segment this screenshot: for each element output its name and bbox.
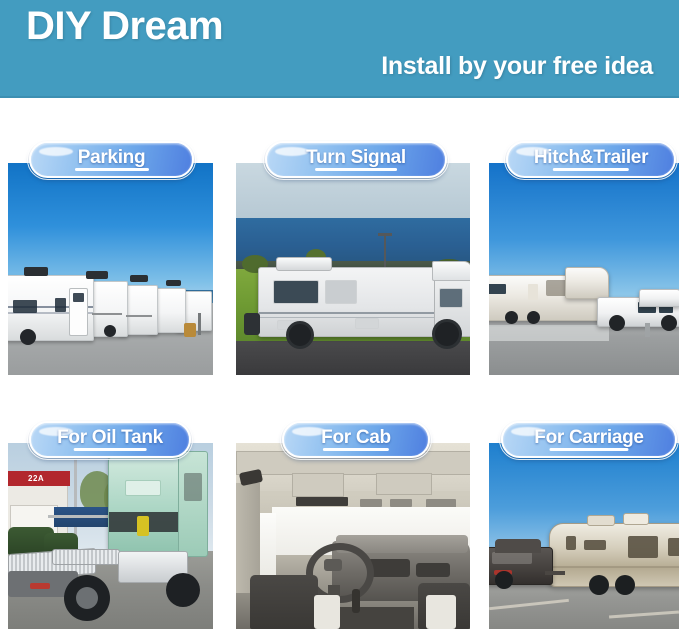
badge-label: Hitch&Trailer [534,147,648,169]
grid-cell-for-cab[interactable]: For Cab [236,443,470,629]
badge-underline [74,168,148,171]
badge-label: Parking [78,147,146,169]
badge-label: Turn Signal [306,147,406,169]
page-header: DIY Dream Install by your free idea [0,0,679,98]
badge-for-cab[interactable]: For Cab [282,421,430,458]
grid-cell-for-carriage[interactable]: For Carriage [489,443,679,629]
badge-underline [553,168,629,171]
badge-label: For Cab [321,427,391,449]
grid-cell-for-oil-tank[interactable]: 22A [8,443,213,629]
badge-parking[interactable]: Parking [29,141,194,178]
badge-label: For Carriage [534,427,643,449]
badge-for-oil-tank[interactable]: For Oil Tank [29,421,191,458]
badge-underline [549,448,628,451]
badge-underline [323,448,389,451]
badge-gloss-icon [275,147,309,156]
page-subtitle: Install by your free idea [381,52,653,81]
badge-turn-signal[interactable]: Turn Signal [265,141,447,178]
grid-cell-turn-signal[interactable]: Turn Signal [236,163,470,375]
photo-silver-airstream-towed-by-suv [489,443,679,629]
badge-gloss-icon [39,147,73,156]
photo-white-motorhome-parked-by-the-sea [236,163,470,375]
photo-truck-cab-interior-dashboard [236,443,470,629]
photo-fifth-wheel-trailer-with-white-pickup-truck [489,163,679,375]
badge-label: For Oil Tank [57,427,163,449]
oil-tank-sign-text: 22A [28,474,44,483]
page-title: DIY Dream [26,4,223,49]
badge-for-carriage[interactable]: For Carriage [501,421,677,458]
grid-cell-hitch-trailer[interactable]: Hitch&Trailer [489,163,679,375]
grid-cell-parking[interactable]: Parking [8,163,213,375]
photo-row-of-white-travel-trailers-parked [8,163,213,375]
feature-grid: Parking [0,98,679,631]
badge-underline [315,168,397,171]
photo-mint-green-semi-truck-tractor: 22A [8,443,213,629]
badge-underline [74,448,147,451]
badge-hitch-trailer[interactable]: Hitch&Trailer [506,141,676,178]
